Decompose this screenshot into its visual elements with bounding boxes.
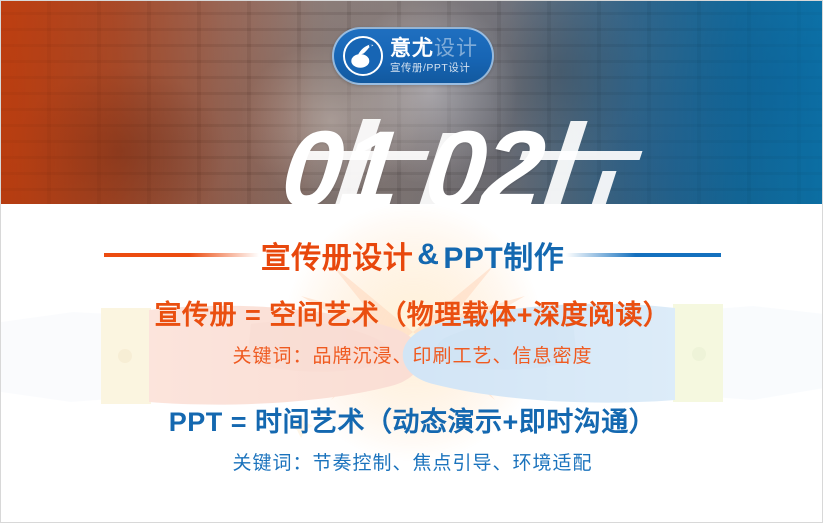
title-left-part: 宣传册设计 bbox=[259, 233, 416, 277]
title-rule-left bbox=[104, 253, 259, 257]
slide-canvas: 01 02 意尤设计 宣传册/PPT设计 bbox=[0, 0, 823, 523]
logo-main-dim: 设计 bbox=[434, 37, 478, 60]
logo-main-strong: 意尤 bbox=[390, 37, 434, 60]
title-right-part: PPT制作 bbox=[441, 233, 566, 277]
title-rule-right bbox=[566, 253, 721, 257]
title-ampersand: & bbox=[415, 238, 441, 272]
ppt-headline: PPT = 时间艺术（动态演示+即时沟通） bbox=[1, 400, 823, 439]
logo-main-text: 意尤设计 bbox=[390, 38, 478, 59]
content-lines: 宣传册 = 空间艺术（物理载体+深度阅读） 关键词：品牌沉浸、印刷工艺、信息密度… bbox=[1, 293, 823, 475]
yiyou-bird-logo-icon bbox=[343, 36, 383, 76]
logo-sub-text: 宣传册/PPT设计 bbox=[390, 63, 478, 74]
brochure-keywords: 关键词：品牌沉浸、印刷工艺、信息密度 bbox=[1, 341, 823, 368]
brand-logo-badge[interactable]: 意尤设计 宣传册/PPT设计 bbox=[332, 27, 494, 85]
content-spacer bbox=[1, 368, 823, 400]
logo-text-group: 意尤设计 宣传册/PPT设计 bbox=[390, 38, 478, 74]
section-title-row: 宣传册设计 & PPT制作 bbox=[1, 233, 823, 277]
ppt-keywords: 关键词：节奏控制、焦点引导、环境适配 bbox=[1, 448, 823, 475]
brochure-headline: 宣传册 = 空间艺术（物理载体+深度阅读） bbox=[1, 293, 823, 332]
